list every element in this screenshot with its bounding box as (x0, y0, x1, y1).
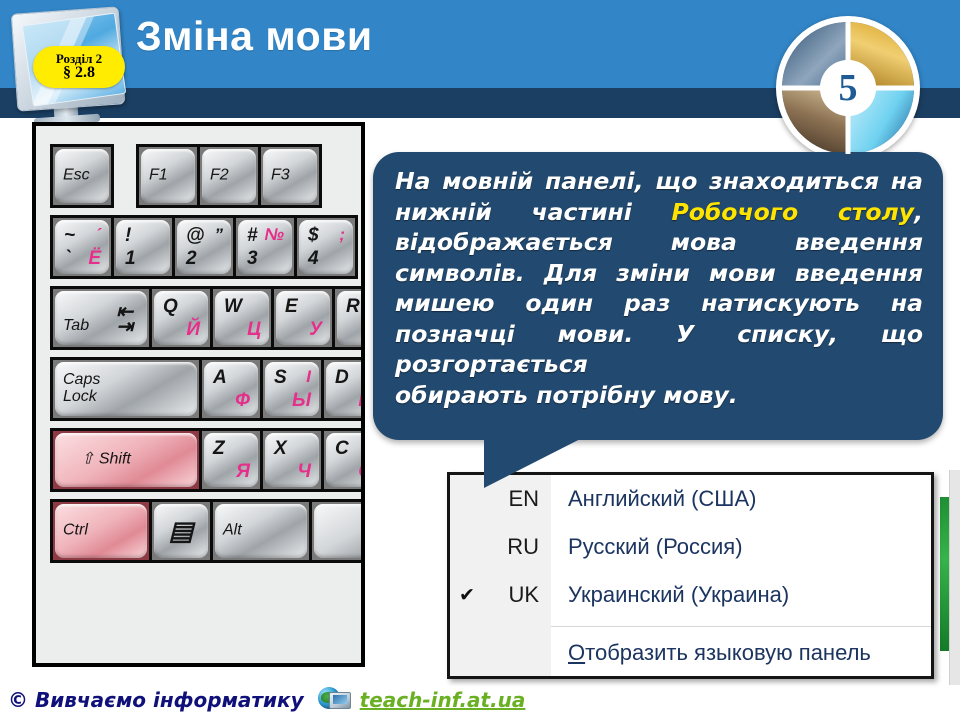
key-group-qwerty: Tab ⇤ ⇥ QЙ WЦ EУ RК (50, 286, 365, 350)
key-f2: F2 (200, 147, 258, 205)
language-name-uk: Украинский (Украина) (551, 582, 789, 608)
chapter-badge-line1: Розділ 2 (56, 52, 102, 66)
show-language-bar-rest: тобразить языковую панель (585, 640, 871, 665)
key-alt: Alt (213, 502, 309, 560)
desktop-green-strip (940, 497, 949, 651)
language-menu[interactable]: EN Английский (США) RU Русский (Россия) … (447, 472, 934, 679)
key-caps-lock: CapsLock (53, 360, 199, 418)
language-code-uk: UK (484, 582, 551, 608)
key-3: #№3 (236, 218, 294, 276)
language-code-ru: RU (484, 534, 551, 560)
explanation-text: На мовній панелі, що знаходиться на нижн… (395, 166, 923, 410)
key-f3: F3 (261, 147, 319, 205)
grade-number-badge: 5 (820, 60, 876, 116)
language-name-ru: Русский (Россия) (551, 534, 743, 560)
explanation-paragraph: На мовній панелі, що знаходиться на нижн… (395, 166, 923, 380)
keyboard-layout: Esc F1 F2 F3 ~´ `Ё (50, 144, 365, 570)
footer-copyright: © Вивчаємо інформатику (8, 688, 304, 712)
key-d: DВ (324, 360, 365, 418)
key-a: AФ (202, 360, 260, 418)
key-shift: ⇧ Shift (53, 431, 199, 489)
check-icon-uk: ✔ (450, 584, 484, 606)
slide-root: Розділ 2 § 2.8 Зміна мови 5 Esc F1 (0, 0, 960, 720)
monitor-logo: Розділ 2 § 2.8 (8, 8, 130, 126)
key-group-home: CapsLock AФ SIЫ DВ FА (50, 357, 365, 421)
keyboard-row-numbers: ~´ `Ё !1 @”2 #№3 $;4 (50, 215, 365, 279)
show-language-bar-item[interactable]: Отобразить языковую панель (450, 627, 931, 679)
grade-number: 5 (839, 69, 858, 107)
footer-site-link[interactable]: teach-inf.at.ua (360, 688, 526, 712)
page-title: Зміна мови (136, 16, 373, 57)
key-r: RК (335, 289, 365, 347)
access-key-letter: О (568, 640, 585, 665)
key-group-esc: Esc (50, 144, 114, 208)
key-tab: Tab ⇤ ⇥ (53, 289, 149, 347)
keyboard-image: Esc F1 F2 F3 ~´ `Ё (32, 122, 365, 667)
language-menu-item-uk[interactable]: ✔ UK Украинский (Украина) (450, 571, 931, 619)
language-name-en: Английский (США) (551, 486, 756, 512)
key-x: XЧ (263, 431, 321, 489)
key-s: SIЫ (263, 360, 321, 418)
language-code-en: EN (484, 486, 551, 512)
language-menu-item-en[interactable]: EN Английский (США) (450, 475, 931, 523)
keyboard-row-function: Esc F1 F2 F3 (50, 144, 365, 208)
key-4: $;4 (297, 218, 355, 276)
key-c: CС (324, 431, 365, 489)
language-menu-item-ru[interactable]: RU Русский (Россия) (450, 523, 931, 571)
key-w: WЦ (213, 289, 271, 347)
explanation-bubble: На мовній панелі, що знаходиться на нижн… (373, 152, 943, 440)
key-z: ZЯ (202, 431, 260, 489)
chapter-badge: Розділ 2 § 2.8 (33, 46, 125, 88)
explanation-highlight: Робочого столу (672, 198, 915, 226)
key-backtick: ~´ `Ё (53, 218, 111, 276)
explanation-last-line: обирають потрібну мову. (395, 380, 923, 411)
key-group-modifiers: Ctrl ▤ Alt (50, 499, 365, 563)
key-e: EУ (274, 289, 332, 347)
key-esc: Esc (53, 147, 111, 205)
keyboard-row-qwerty: Tab ⇤ ⇥ QЙ WЦ EУ RК (50, 286, 365, 350)
key-windows: ▤ (152, 502, 210, 560)
keyboard-row-shift: ⇧ Shift ZЯ XЧ CС (50, 428, 365, 492)
key-space (312, 502, 365, 560)
chapter-badge-line2: § 2.8 (63, 65, 95, 82)
desktop-right-edge (949, 470, 960, 685)
keyboard-row-home: CapsLock AФ SIЫ DВ FА (50, 357, 365, 421)
course-logo-photos: 5 (782, 22, 914, 154)
key-q: QЙ (152, 289, 210, 347)
key-group-numbers: ~´ `Ё !1 @”2 #№3 $;4 (50, 215, 358, 279)
windows-flag-icon: ▤ (169, 516, 194, 547)
key-ctrl: Ctrl (53, 502, 149, 560)
key-2: @”2 (175, 218, 233, 276)
keyboard-row-modifiers: Ctrl ▤ Alt (50, 499, 365, 563)
footer: © Вивчаємо інформатику teach-inf.at.ua (8, 686, 525, 714)
key-group-shift: ⇧ Shift ZЯ XЧ CС (50, 428, 365, 492)
monitor-small-icon (329, 692, 351, 709)
key-1: !1 (114, 218, 172, 276)
show-language-bar-label: Отобразить языковую панель (551, 640, 871, 666)
key-group-fkeys: F1 F2 F3 (136, 144, 322, 208)
globe-monitor-icon (318, 686, 352, 714)
key-f1: F1 (139, 147, 197, 205)
course-logo: 5 (776, 16, 920, 160)
